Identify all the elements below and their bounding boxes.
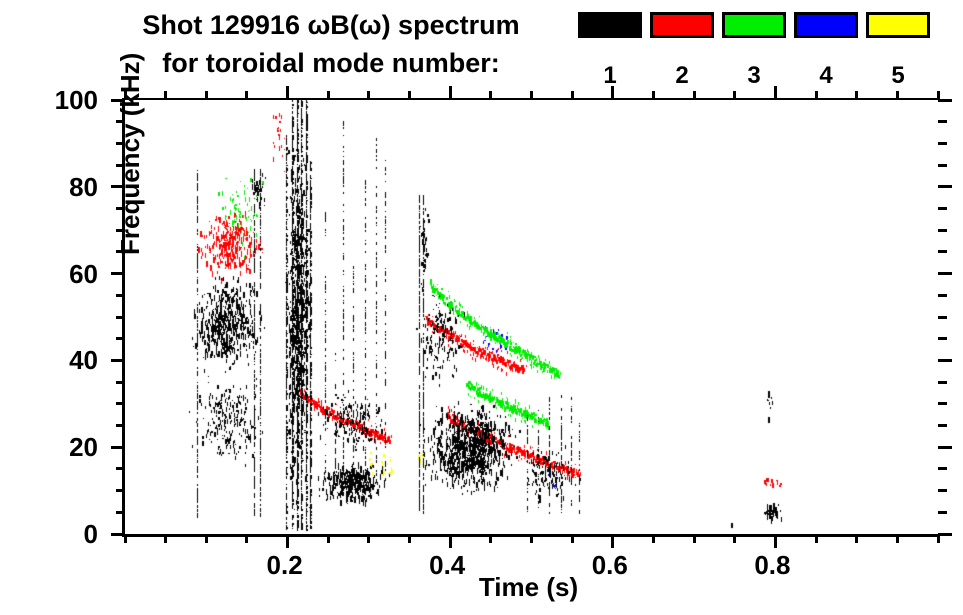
legend-label-2: 2 xyxy=(650,64,714,88)
x-tick-0.50 xyxy=(530,534,533,543)
y-tick-right-25 xyxy=(938,424,947,427)
y-tick-label-0: 0 xyxy=(0,521,98,547)
y-tick-45 xyxy=(116,337,125,340)
x-tick-top-0.40 xyxy=(449,86,452,100)
x-tick-top-0.70 xyxy=(693,91,696,100)
x-tick-top-0.30 xyxy=(367,91,370,100)
x-tick-0.60 xyxy=(611,534,614,548)
y-tick-right-50 xyxy=(938,316,947,319)
y-tick-label-60: 60 xyxy=(0,261,98,287)
x-tick-0.70 xyxy=(693,534,696,543)
x-tick-top-0.15 xyxy=(245,91,248,100)
y-tick-right-70 xyxy=(938,229,947,232)
y-tick-right-35 xyxy=(938,381,947,384)
y-tick-right-5 xyxy=(938,511,947,514)
y-tick-right-0 xyxy=(938,533,952,536)
x-tick-0.95 xyxy=(896,534,899,543)
y-tick-right-65 xyxy=(938,250,947,253)
title-line-1: Shot 129916 ωB(ω) spectrum xyxy=(96,6,566,44)
y-tick-label-80: 80 xyxy=(0,174,98,200)
x-tick-0.25 xyxy=(327,534,330,543)
x-tick-0.00 xyxy=(124,534,127,543)
y-tick-right-75 xyxy=(938,207,947,210)
y-tick-right-40 xyxy=(938,359,952,362)
x-tick-label-0.4: 0.4 xyxy=(407,552,487,578)
y-tick-30 xyxy=(116,402,125,405)
y-tick-label-20: 20 xyxy=(0,434,98,460)
y-tick-right-85 xyxy=(938,164,947,167)
x-tick-top-0.75 xyxy=(733,91,736,100)
plot-frame: Frequency (kHz) xyxy=(122,100,938,537)
y-tick-label-100: 100 xyxy=(0,87,98,113)
y-tick-25 xyxy=(116,424,125,427)
y-tick-right-30 xyxy=(938,402,947,405)
legend-swatch-4 xyxy=(794,12,858,38)
x-tick-top-0.80 xyxy=(774,86,777,100)
y-tick-right-100 xyxy=(938,99,952,102)
x-tick-top-0.60 xyxy=(611,86,614,100)
legend-label-5: 5 xyxy=(866,64,930,88)
x-tick-0.45 xyxy=(489,534,492,543)
x-tick-0.35 xyxy=(408,534,411,543)
y-tick-right-95 xyxy=(938,120,947,123)
x-tick-top-1.00 xyxy=(937,91,940,100)
spectrogram-plot-area xyxy=(125,100,938,534)
y-tick-right-15 xyxy=(938,467,947,470)
y-tick-10 xyxy=(116,489,125,492)
y-tick-right-20 xyxy=(938,446,952,449)
y-tick-35 xyxy=(116,381,125,384)
x-tick-0.55 xyxy=(571,534,574,543)
x-tick-label-0.8: 0.8 xyxy=(732,552,812,578)
x-tick-0.05 xyxy=(164,534,167,543)
x-tick-1.00 xyxy=(937,534,940,543)
legend-label-4: 4 xyxy=(794,64,858,88)
y-tick-label-40: 40 xyxy=(0,347,98,373)
title-line-2: for toroidal mode number: xyxy=(96,44,566,82)
y-tick-right-10 xyxy=(938,489,947,492)
x-tick-0.10 xyxy=(205,534,208,543)
y-axis-title: Frequency (kHz) xyxy=(115,53,146,255)
legend: 12345 xyxy=(578,12,956,90)
x-tick-top-0.45 xyxy=(489,91,492,100)
y-tick-60 xyxy=(111,272,125,275)
x-tick-top-0.90 xyxy=(855,91,858,100)
x-tick-top-0.50 xyxy=(530,91,533,100)
legend-swatch-1 xyxy=(578,12,642,38)
x-tick-top-0.20 xyxy=(286,86,289,100)
y-tick-right-45 xyxy=(938,337,947,340)
y-tick-5 xyxy=(116,511,125,514)
x-tick-0.85 xyxy=(815,534,818,543)
y-tick-50 xyxy=(116,316,125,319)
x-tick-top-0.35 xyxy=(408,91,411,100)
figure-title: Shot 129916 ωB(ω) spectrum for toroidal … xyxy=(96,6,566,82)
x-tick-0.75 xyxy=(733,534,736,543)
legend-swatch-2 xyxy=(650,12,714,38)
x-tick-top-0.95 xyxy=(896,91,899,100)
x-tick-top-0.65 xyxy=(652,91,655,100)
legend-label-1: 1 xyxy=(578,64,642,88)
x-tick-0.80 xyxy=(774,534,777,548)
x-tick-0.40 xyxy=(449,534,452,548)
legend-swatch-5 xyxy=(866,12,930,38)
x-tick-top-0.10 xyxy=(205,91,208,100)
y-tick-20 xyxy=(111,446,125,449)
y-tick-15 xyxy=(116,467,125,470)
x-tick-top-0.25 xyxy=(327,91,330,100)
spectrogram-canvas xyxy=(125,100,938,534)
x-tick-top-0.05 xyxy=(164,91,167,100)
x-tick-0.30 xyxy=(367,534,370,543)
y-tick-right-80 xyxy=(938,185,952,188)
x-tick-0.90 xyxy=(855,534,858,543)
figure-root: Shot 129916 ωB(ω) spectrum for toroidal … xyxy=(0,0,963,615)
y-tick-right-60 xyxy=(938,272,952,275)
x-tick-0.20 xyxy=(286,534,289,548)
legend-swatch-3 xyxy=(722,12,786,38)
y-tick-40 xyxy=(111,359,125,362)
x-tick-label-0.6: 0.6 xyxy=(570,552,650,578)
x-tick-label-0.2: 0.2 xyxy=(245,552,325,578)
x-tick-top-0.85 xyxy=(815,91,818,100)
legend-label-3: 3 xyxy=(722,64,786,88)
y-tick-55 xyxy=(116,294,125,297)
y-tick-right-55 xyxy=(938,294,947,297)
x-tick-top-0.55 xyxy=(571,91,574,100)
y-tick-right-90 xyxy=(938,142,947,145)
x-tick-0.65 xyxy=(652,534,655,543)
x-tick-0.15 xyxy=(245,534,248,543)
